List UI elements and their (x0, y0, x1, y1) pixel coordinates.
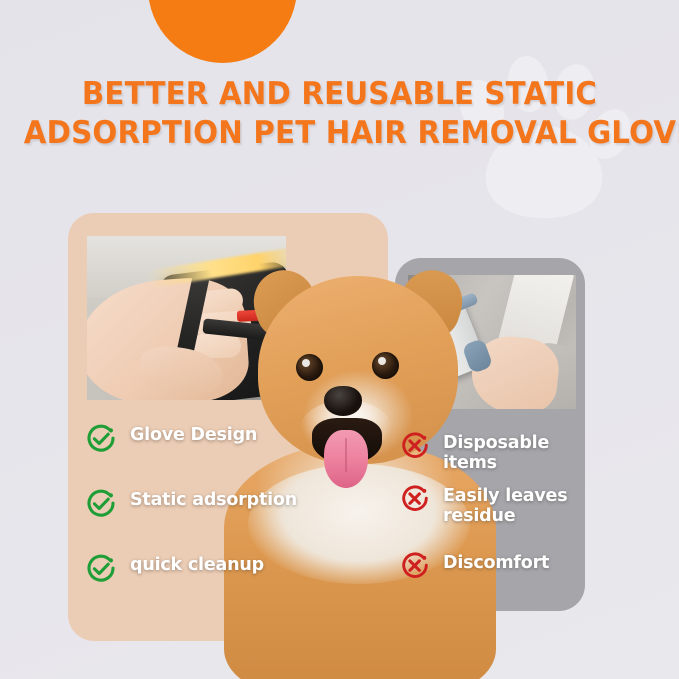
con-item-label: Easily leaves residue (443, 483, 603, 527)
dog-eye-right-shape (372, 352, 399, 379)
pro-item-label: Static adsorption (130, 487, 297, 510)
cross-circle-icon (399, 430, 431, 467)
title-line-2: ADSORPTION PET HAIR REMOVAL GLOVE (24, 117, 655, 149)
con-item-3: Discomfort (399, 550, 603, 587)
check-circle-icon (84, 422, 118, 461)
pro-item-label: Glove Design (130, 422, 257, 445)
product-infographic-poster: BETTER AND REUSABLE STATIC ADSORPTION PE… (0, 0, 679, 679)
pro-item-3: quick cleanup (84, 552, 264, 591)
con-item-label: Discomfort (443, 550, 603, 573)
con-item-label: Disposable items (443, 430, 603, 474)
pro-item-label: quick cleanup (130, 552, 264, 575)
title-line-1: BETTER AND REUSABLE STATIC (24, 78, 655, 110)
pro-item-1: Glove Design (84, 422, 257, 461)
pro-item-2: Static adsorption (84, 487, 297, 526)
cross-circle-icon (399, 550, 431, 587)
dog-tongue-shape (324, 430, 368, 488)
dog-eye-left-shape (296, 354, 323, 381)
poster-title: BETTER AND REUSABLE STATIC ADSORPTION PE… (0, 78, 679, 149)
con-item-1: Disposable items (399, 430, 603, 474)
orange-circle-decoration (148, 0, 297, 63)
check-circle-icon (84, 552, 118, 591)
cross-circle-icon (399, 483, 431, 520)
dog-nose-shape (324, 386, 362, 416)
con-item-2: Easily leaves residue (399, 483, 603, 527)
check-circle-icon (84, 487, 118, 526)
